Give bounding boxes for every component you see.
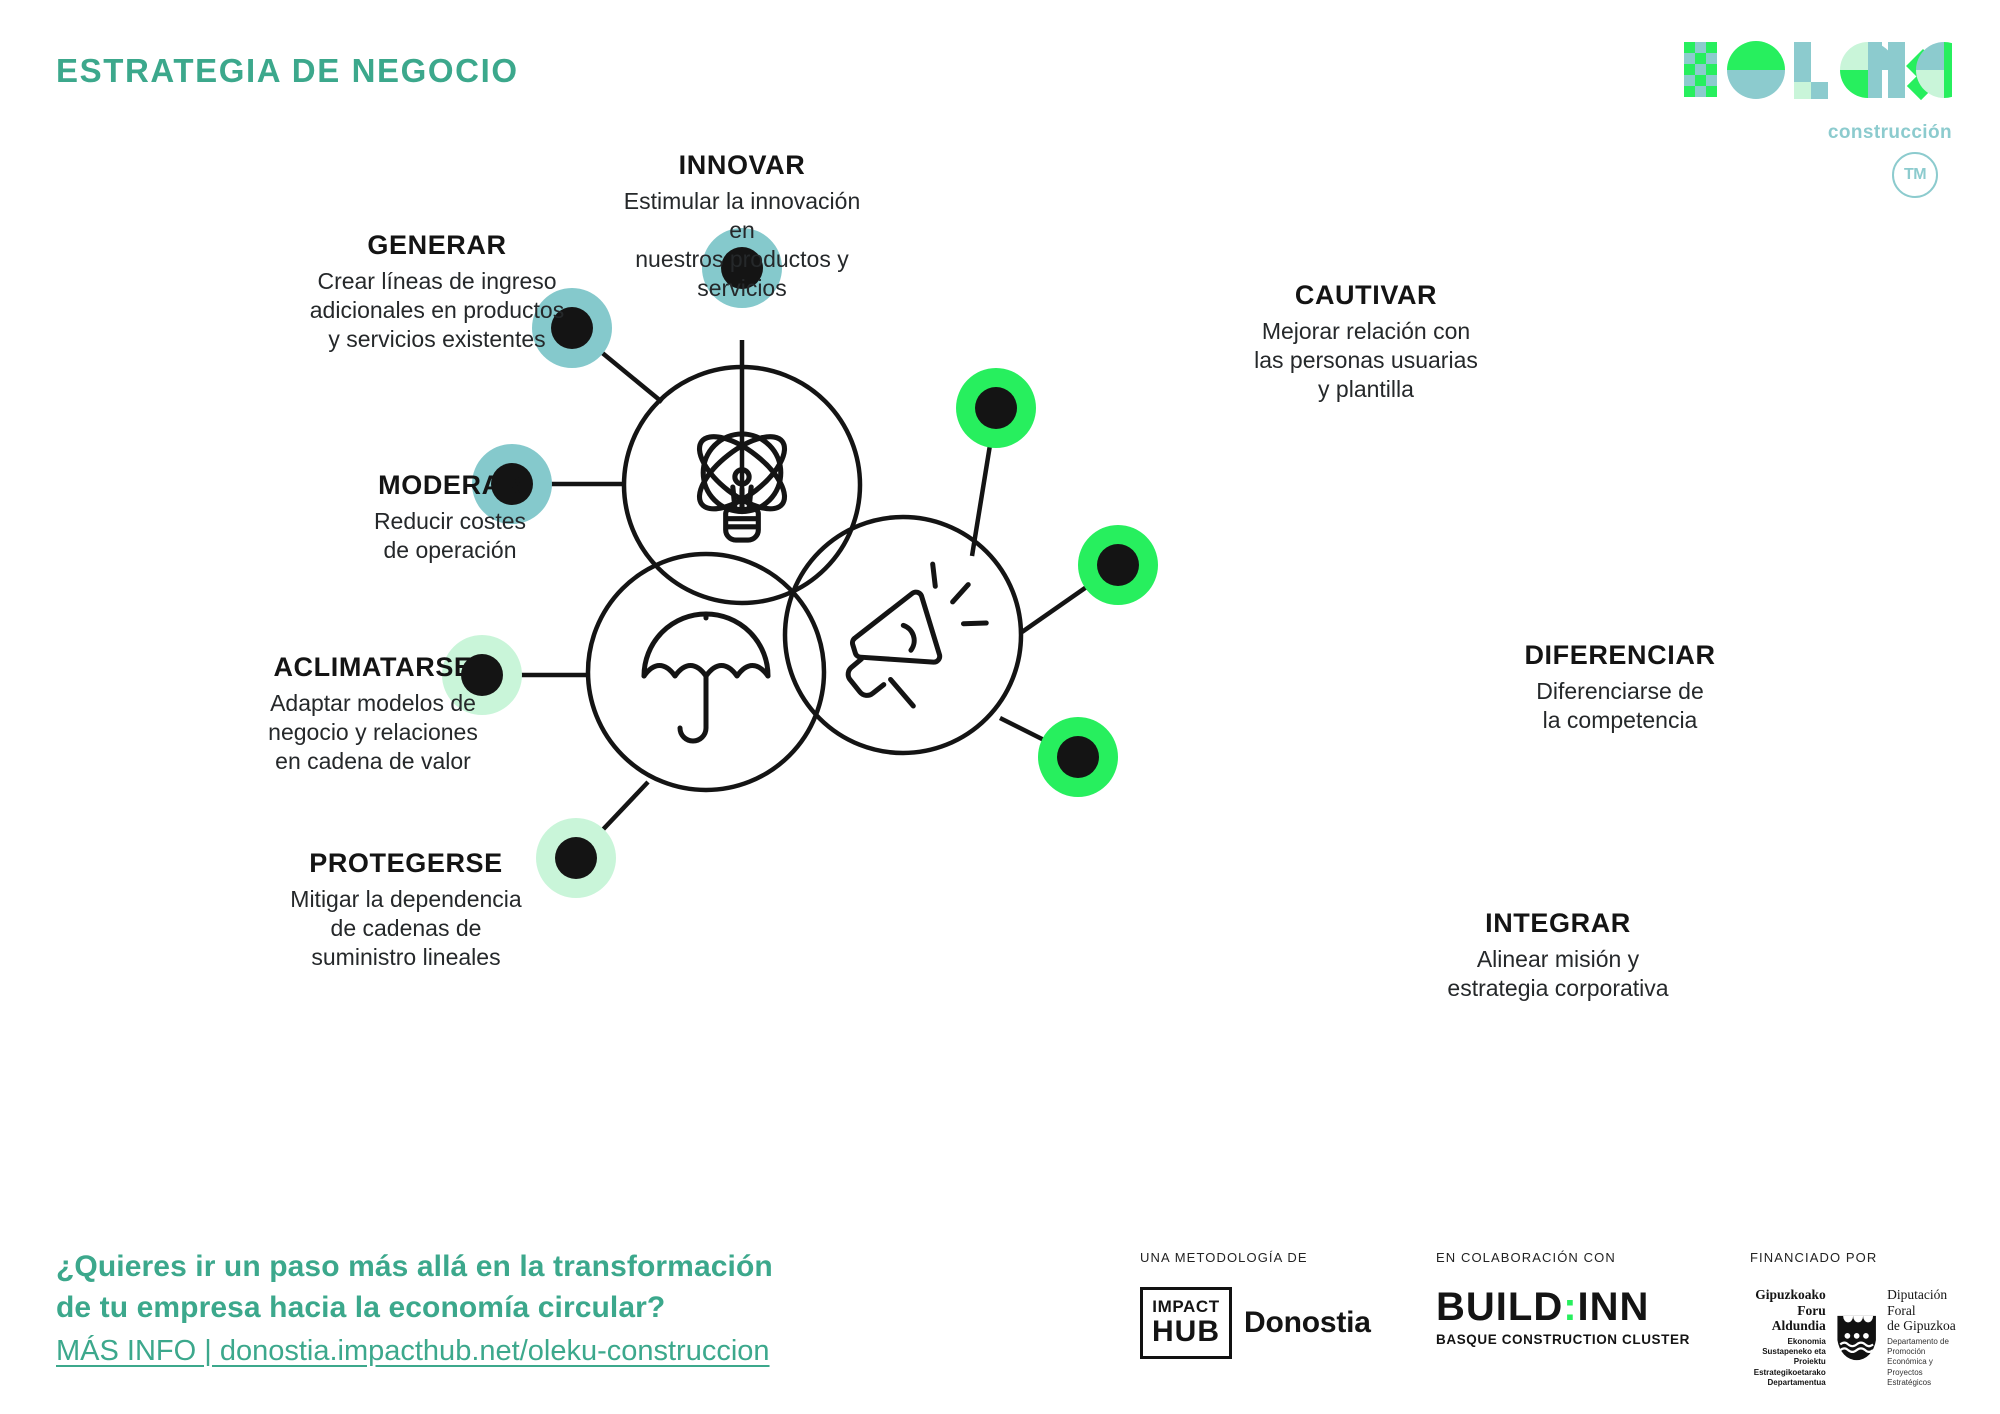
label-moderar: MODERAR Reducir costes de operación bbox=[310, 470, 590, 565]
label-generar-title: GENERAR bbox=[290, 230, 584, 261]
label-aclimatarse-desc: Adaptar modelos de negocio y relaciones … bbox=[228, 689, 518, 776]
communication-circle bbox=[785, 517, 1021, 753]
label-integrar-desc: Alinear misión y estrategia corporativa bbox=[1410, 945, 1706, 1003]
label-integrar-title: INTEGRAR bbox=[1410, 908, 1706, 939]
credit-caption-financiado: FINANCIADO POR bbox=[1750, 1250, 1960, 1265]
label-aclimatarse-title: ACLIMATARSE bbox=[228, 652, 518, 683]
credit-caption-colaboracion: EN COLABORACIÓN CON bbox=[1436, 1250, 1690, 1265]
label-innovar-desc: Estimular la innovación en nuestros prod… bbox=[608, 187, 876, 303]
build-inn-main-b: INN bbox=[1578, 1285, 1650, 1329]
impact-hub-impact-text: IMPACT bbox=[1152, 1298, 1220, 1315]
label-innovar-title: INNOVAR bbox=[608, 150, 876, 181]
cta-line-2: de tu empresa hacia la economía circular… bbox=[56, 1287, 773, 1328]
credit-gipuzkoa: FINANCIADO POR Gipuzkoako Foru Aldundia … bbox=[1750, 1250, 1960, 1389]
node-diferenciar[interactable] bbox=[1078, 525, 1158, 605]
label-protegerse: PROTEGERSE Mitigar la dependencia de cad… bbox=[260, 848, 552, 972]
poster-canvas: ESTRATEGIA DE NEGOCIO bbox=[0, 0, 2000, 1414]
label-diferenciar-title: DIFERENCIAR bbox=[1480, 640, 1760, 671]
build-inn-logo-icon: BUILD:INN BASQUE CONSTRUCTION CLUSTER bbox=[1436, 1287, 1690, 1347]
label-aclimatarse: ACLIMATARSE Adaptar modelos de negocio y… bbox=[228, 652, 518, 776]
impact-hub-hub-text: HUB bbox=[1152, 1317, 1220, 1347]
credit-caption-metodologia: UNA METODOLOGÍA DE bbox=[1140, 1250, 1371, 1265]
gipuzkoa-eu-title: Gipuzkoako Foru Aldundia bbox=[1750, 1287, 1826, 1334]
gipuzkoa-eu-sub: Ekonomia Sustapeneko eta Proiektu Estrat… bbox=[1750, 1337, 1826, 1389]
label-moderar-title: MODERAR bbox=[310, 470, 590, 501]
node-cautivar[interactable] bbox=[956, 368, 1036, 448]
node-integrar[interactable] bbox=[1038, 717, 1118, 797]
strategy-diagram: INNOVAR Estimular la innovación en nuest… bbox=[0, 0, 2000, 1240]
impact-hub-logo-icon: IMPACT HUB bbox=[1140, 1287, 1232, 1359]
more-info-link[interactable]: MÁS INFO | donostia.impacthub.net/oleku-… bbox=[56, 1335, 770, 1368]
gipuzkoa-es-sub: Departamento de Promoción Económica y Pr… bbox=[1887, 1337, 1960, 1389]
label-diferenciar-desc: Diferenciarse de la competencia bbox=[1480, 677, 1760, 735]
label-generar: GENERAR Crear líneas de ingreso adiciona… bbox=[290, 230, 584, 354]
label-cautivar-title: CAUTIVAR bbox=[1218, 280, 1514, 311]
gipuzkoa-logo-icon: Gipuzkoako Foru Aldundia Ekonomia Sustap… bbox=[1750, 1287, 1960, 1389]
build-inn-subtitle: BASQUE CONSTRUCTION CLUSTER bbox=[1436, 1332, 1690, 1347]
label-cautivar-desc: Mejorar relación con las personas usuari… bbox=[1218, 317, 1514, 404]
label-integrar: INTEGRAR Alinear misión y estrategia cor… bbox=[1410, 908, 1706, 1003]
footer: ¿Quieres ir un paso más allá en la trans… bbox=[0, 1234, 2000, 1414]
cta-line-1: ¿Quieres ir un paso más allá en la trans… bbox=[56, 1246, 773, 1287]
credit-build-inn: EN COLABORACIÓN CON BUILD:INN BASQUE CON… bbox=[1436, 1250, 1690, 1347]
gipuzkoa-shield-icon bbox=[1836, 1305, 1877, 1371]
credits-row: UNA METODOLOGÍA DE IMPACT HUB Donostia E… bbox=[1140, 1250, 1960, 1390]
label-generar-desc: Crear líneas de ingreso adicionales en p… bbox=[290, 267, 584, 354]
label-cautivar: CAUTIVAR Mejorar relación con las person… bbox=[1218, 280, 1514, 404]
label-protegerse-title: PROTEGERSE bbox=[260, 848, 552, 879]
build-inn-colon-icon: : bbox=[1563, 1285, 1577, 1329]
label-protegerse-desc: Mitigar la dependencia de cadenas de sum… bbox=[260, 885, 552, 972]
label-moderar-desc: Reducir costes de operación bbox=[310, 507, 590, 565]
impact-hub-donostia-text: Donostia bbox=[1244, 1306, 1371, 1340]
label-innovar: INNOVAR Estimular la innovación en nuest… bbox=[608, 150, 876, 303]
gipuzkoa-es-title: Diputación Foral de Gipuzkoa bbox=[1887, 1287, 1960, 1334]
diagram-svg bbox=[0, 0, 2000, 1240]
credit-impact-hub: UNA METODOLOGÍA DE IMPACT HUB Donostia bbox=[1140, 1250, 1371, 1359]
label-diferenciar: DIFERENCIAR Diferenciarse de la competen… bbox=[1480, 640, 1760, 735]
cta-block: ¿Quieres ir un paso más allá en la trans… bbox=[56, 1246, 773, 1368]
build-inn-main-a: BUILD bbox=[1436, 1285, 1563, 1329]
